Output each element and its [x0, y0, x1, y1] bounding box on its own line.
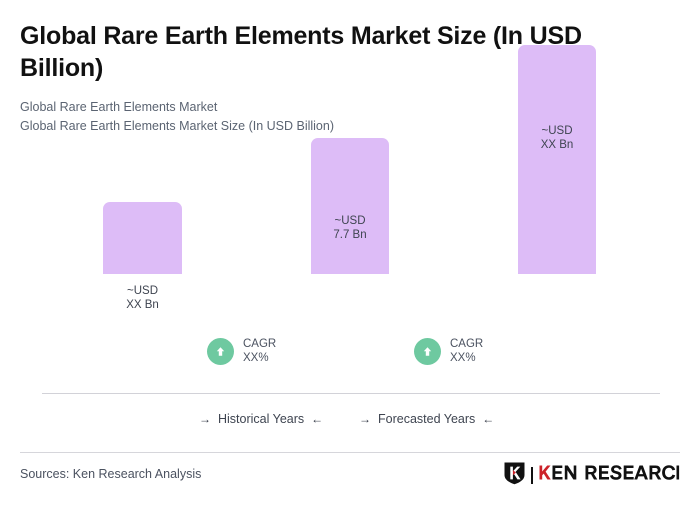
arrow-right-icon: →	[199, 410, 211, 428]
ken-research-shield-icon	[503, 461, 526, 490]
cagr-badge-forecast: CAGR XX%	[414, 337, 483, 365]
period-historical-years: → Historical Years ←	[199, 410, 323, 428]
bar-base-year	[311, 138, 389, 274]
bar-historical	[103, 202, 182, 274]
arrow-left-icon: ←	[311, 410, 323, 428]
bar-label-base-year: ~USD 7.7 Bn	[311, 214, 389, 242]
cagr-label: CAGR	[243, 337, 276, 351]
period-historical-label: Historical Years	[218, 410, 304, 428]
bar-label-value: XX Bn	[103, 298, 182, 312]
footer-divider	[20, 452, 680, 453]
period-captions: → Historical Years ← → Forecasted Years …	[42, 410, 660, 432]
bar-label-unit: ~USD	[311, 214, 389, 228]
bar-label-forecast: ~USD XX Bn	[518, 124, 596, 152]
cagr-label-group: CAGR XX%	[450, 337, 483, 365]
cagr-badge-historical: CAGR XX%	[207, 337, 276, 365]
bar-label-value: 7.7 Bn	[311, 228, 389, 242]
bar-label-unit: ~USD	[518, 124, 596, 138]
period-forecasted-label: Forecasted Years	[378, 410, 475, 428]
bar-label-unit: ~USD	[103, 284, 182, 298]
logo-wordmark	[538, 463, 680, 487]
cagr-label: CAGR	[450, 337, 483, 351]
x-axis-baseline	[42, 393, 660, 394]
chart-plot-area: ~USD XX Bn ~USD 7.7 Bn ~USD XX Bn CAGR X…	[0, 0, 700, 400]
arrow-up-icon	[414, 338, 441, 365]
chart-page: Global Rare Earth Elements Market Size (…	[0, 0, 700, 520]
cagr-label-group: CAGR XX%	[243, 337, 276, 365]
arrow-right-icon: →	[359, 410, 371, 428]
cagr-value: XX%	[450, 351, 483, 365]
logo-divider	[531, 467, 533, 484]
arrow-up-icon	[207, 338, 234, 365]
arrow-left-icon: ←	[482, 410, 494, 428]
bar-label-historical: ~USD XX Bn	[103, 284, 182, 312]
cagr-value: XX%	[243, 351, 276, 365]
bar-label-value: XX Bn	[518, 138, 596, 152]
sources-text: Sources: Ken Research Analysis	[20, 466, 201, 482]
bar-forecast	[518, 45, 596, 274]
period-forecasted-years: → Forecasted Years ←	[359, 410, 494, 428]
ken-research-logo	[503, 463, 680, 487]
